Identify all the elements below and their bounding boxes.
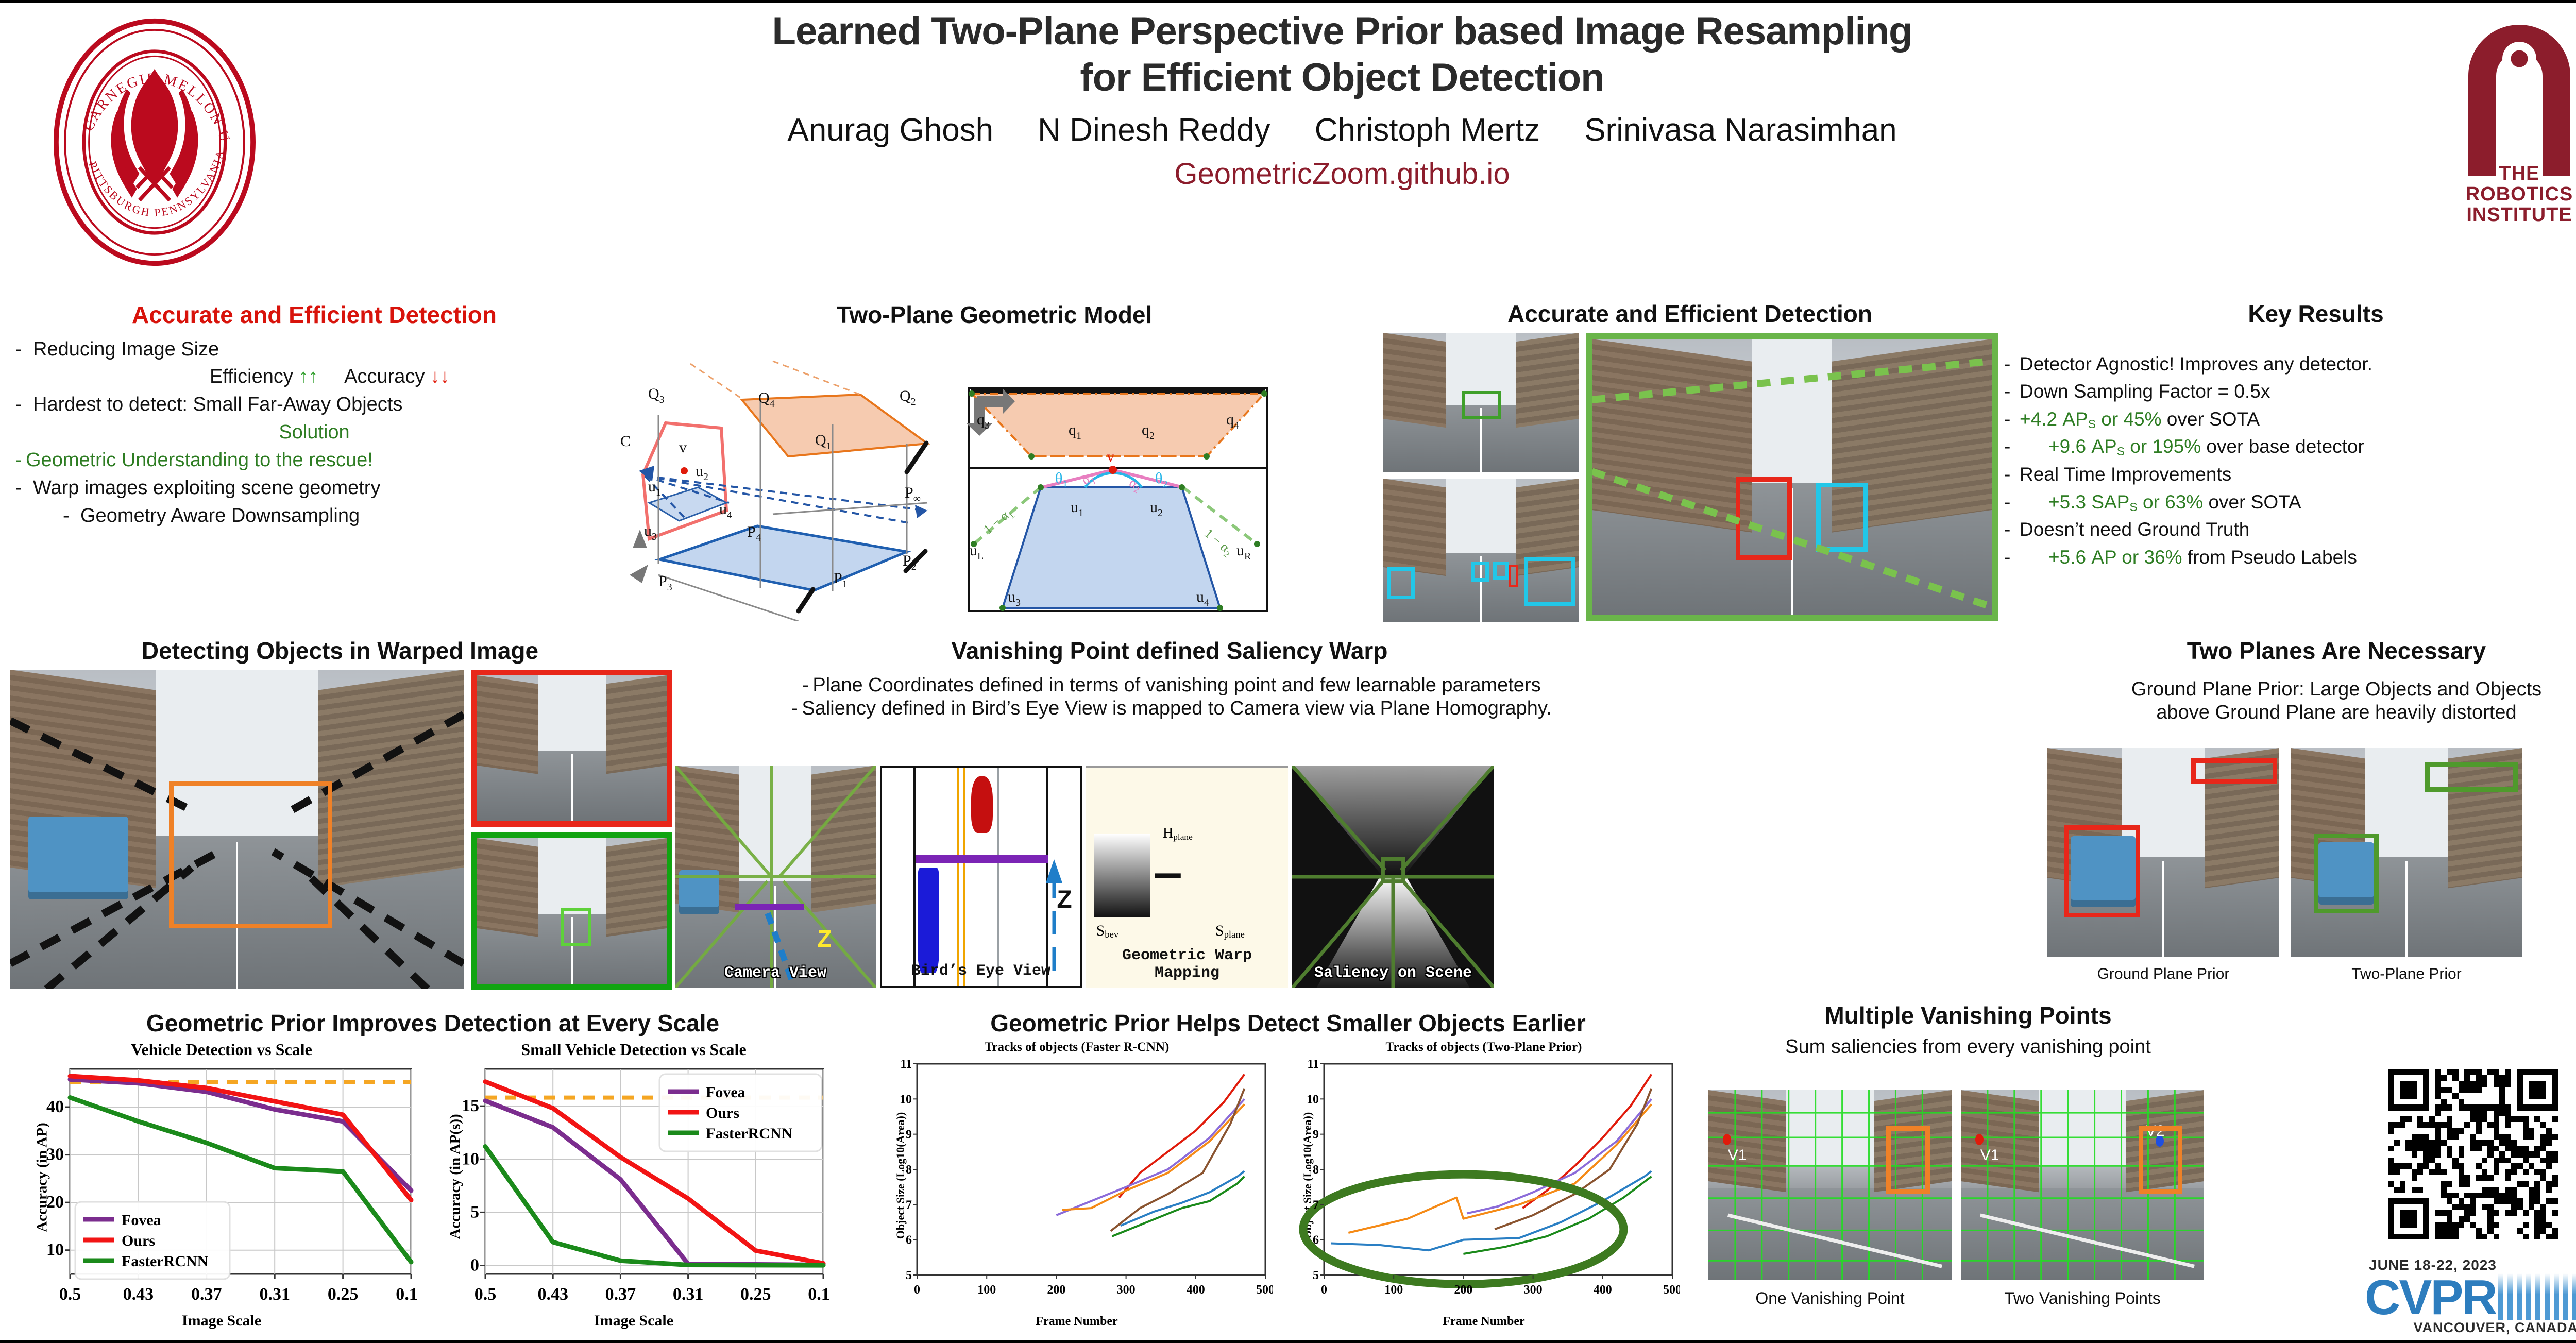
warped-crop-after [471,832,672,990]
bev-blue-bus-icon [918,868,939,973]
intro-solution-heading: Solution [15,419,613,447]
chart2-xlabel: Image Scale [438,1312,829,1330]
svg-text:0.37: 0.37 [605,1285,636,1304]
author-2: N Dinesh Reddy [1038,112,1270,148]
label-u4: u4 [719,501,732,521]
detection-title: Accurate and Efficient Detection [1381,301,1999,328]
key-result-2: -Down Sampling Factor = 0.5x [2004,378,2576,405]
warped-main-image [10,670,464,989]
key-result-1: -Detector Agnostic! Improves any detecto… [2004,350,2576,378]
svg-text:7: 7 [1313,1198,1319,1212]
two-planes-subtitle-line-2: above Ground Plane are heavily distorted [2040,701,2576,725]
bev-z-axis-label: Z [1057,886,1072,914]
svg-text:0.25: 0.25 [328,1285,359,1304]
svg-text:200: 200 [1454,1283,1472,1297]
chart3-title: Tracks of objects (Faster R-CNN) [881,1040,1273,1055]
vp1-marker-icon [1723,1134,1731,1145]
sbev-gradient-block [1094,834,1151,917]
label-P3: P3 [658,573,672,593]
svg-text:7: 7 [906,1198,912,1212]
label-u2: u2 [696,463,708,483]
saliency-warp-title: Vanishing Point defined Saliency Warp [675,638,1664,665]
chart3-xlabel: Frame Number [881,1315,1273,1329]
two-planes-necessary-title: Two Planes Are Necessary [2040,638,2576,665]
bev-red-car-icon [971,776,993,833]
chart4-xlabel: Frame Number [1288,1315,1680,1329]
key-result-3: -+4.2 APS or 45% over SOTA [2004,405,2576,433]
page-title-line-2: for Efficient Object Detection [289,55,2396,101]
chart1-xlabel: Image Scale [26,1312,417,1330]
poster-root: CARNEGIE MELLON UNIVERSITY PITTSBURGH PE… [0,0,2576,1343]
cvpr-name: CVPR [2365,1276,2496,1320]
svg-text:30: 30 [46,1145,64,1164]
svg-text:100: 100 [977,1283,996,1297]
tracks-charts-section: Geometric Prior Helps Detect Smaller Obj… [876,1010,1700,1037]
svg-text:5: 5 [1313,1269,1319,1282]
svg-text:0.31: 0.31 [673,1285,704,1304]
ground-plane-prior-image [2047,748,2279,957]
geometric-warp-mapping-panel: Sbev Hplane Splane Geometric Warp Mappin… [1086,766,1288,988]
project-qr-code[interactable] [2388,1069,2558,1239]
label-v: v [679,439,687,456]
svg-text:100: 100 [1384,1283,1403,1297]
ri-line-2: ROBOTICS [2411,184,2576,205]
svg-text:Ours: Ours [706,1104,739,1121]
chart1-title: Vehicle Detection vs Scale [26,1040,417,1059]
vp1-marker-icon-2 [1975,1134,1984,1145]
intro-bullet-5: -Geometry Aware Downsampling [15,502,613,530]
svg-text:11: 11 [900,1060,912,1071]
scale-charts-section: Geometric Prior Improves Detection at Ev… [10,1010,855,1037]
svg-text:300: 300 [1117,1283,1136,1297]
chart-vehicle-detection-vs-scale: Vehicle Detection vs Scale Accuracy (in … [26,1040,417,1329]
two-plane-prior-caption: Two-Plane Prior [2291,965,2522,983]
key-results-section: Key Results -Detector Agnostic! Improves… [2004,301,2576,571]
saliency-on-scene-label: Saliency on Scene [1292,964,1494,982]
svg-text:0.31: 0.31 [259,1285,290,1304]
vp1-label-right: V1 [1980,1147,1999,1164]
two-plane-model-section: Two-Plane Geometric Model [618,302,1370,621]
svg-text:15: 15 [462,1096,479,1115]
svg-text:0: 0 [914,1283,920,1297]
vanishing-points-subtitle: Sum saliencies from every vanishing poin… [1705,1035,2231,1059]
svg-text:11: 11 [1307,1060,1319,1071]
project-website-link[interactable]: GeometricZoom.github.io [289,157,2396,191]
warped-crop-before [471,670,672,827]
key-result-5: -Real Time Improvements [2004,461,2576,488]
svg-text:5: 5 [470,1202,479,1221]
intro-bullet-4: -Warp images exploiting scene geometry [15,474,613,502]
author-3: Christoph Mertz [1315,112,1540,148]
svg-text:10: 10 [900,1093,912,1106]
robotics-institute-logo: THE ROBOTICS INSTITUTE [2411,11,2576,274]
chart4-title: Tracks of objects (Two-Plane Prior) [1288,1040,1680,1055]
svg-text:0.25: 0.25 [740,1285,771,1304]
svg-text:FasterRCNN: FasterRCNN [706,1125,793,1142]
two-plane-model-diagram: Q3 Q4 Q2 Q1 C v u2 u1 u3 u4 P∞ P4 P3 P2 … [618,333,1370,621]
svg-text:0.12: 0.12 [808,1285,829,1304]
intro-bullet-1-sub: Efficiency ↑↑ Accuracy ↓↓ [15,363,613,391]
svg-text:500: 500 [1663,1283,1680,1297]
label-v-2d: v [1107,448,1114,465]
poster-header: CARNEGIE MELLON UNIVERSITY PITTSBURGH PE… [0,3,2576,292]
cvpr-logo: JUNE 18-22, 2023 CVPR VANCOUVER, CANADA [2365,1257,2576,1336]
svg-text:500: 500 [1256,1283,1273,1297]
saliency-bullet-2: -Saliency defined in Bird’s Eye View is … [675,697,1664,721]
geometric-warp-mapping-label: Geometric Warp Mapping [1086,947,1288,982]
detection-source-image-bottom [1383,479,1579,622]
svg-text:6: 6 [906,1234,912,1247]
svg-text:8: 8 [906,1163,912,1177]
cmu-seal-logo: CARNEGIE MELLON UNIVERSITY PITTSBURGH PE… [28,16,281,268]
one-vanishing-point-caption: One Vanishing Point [1708,1289,1952,1308]
birds-eye-view-panel: Z Bird’s Eye View [880,766,1082,988]
vanishing-points-section: Multiple Vanishing Points Sum saliencies… [1705,1002,2231,1059]
vanishing-points-title: Multiple Vanishing Points [1705,1002,2231,1029]
page-title-line-1: Learned Two-Plane Perspective Prior base… [289,8,2396,55]
splane-label: Splane [1215,922,1245,941]
saliency-on-scene-panel: Saliency on Scene [1292,766,1494,988]
svg-text:0.43: 0.43 [123,1285,154,1304]
warped-image-section: Detecting Objects in Warped Image [5,638,675,665]
camera-view-label: Camera View [675,964,876,982]
author-list: Anurag Ghosh N Dinesh Reddy Christoph Me… [289,112,2396,148]
qr-cvpr-block: JUNE 18-22, 2023 CVPR VANCOUVER, CANADA [2365,1069,2576,1336]
svg-text:5: 5 [906,1269,912,1282]
key-result-4: -+9.6 APS or 195% over base detector [2004,433,2576,461]
vancouver-skyline-icon [2498,1273,2576,1320]
intro-bullet-1: -Reducing Image Size [15,336,613,364]
svg-text:6: 6 [1313,1234,1319,1247]
sbev-label: Sbev [1096,922,1119,941]
key-result-7: -Doesn’t need Ground Truth [2004,516,2576,543]
svg-text:FasterRCNN: FasterRCNN [122,1253,209,1270]
camera-view-z-axis-label: Z [817,925,832,953]
hplane-label: Hplane [1163,825,1193,842]
birds-eye-view-label: Bird’s Eye View [882,962,1080,980]
svg-text:0: 0 [470,1256,479,1275]
svg-text:0.5: 0.5 [474,1285,497,1304]
author-4: Srinivasa Narasimhan [1584,112,1896,148]
svg-text:0.37: 0.37 [191,1285,222,1304]
two-planes-necessary-section: Two Planes Are Necessary Ground Plane Pr… [2040,638,2576,725]
vp1-label-left: V1 [1728,1147,1747,1164]
chart-tracks-two-plane-prior: Tracks of objects (Two-Plane Prior) Obje… [1288,1040,1680,1329]
svg-text:300: 300 [1524,1283,1543,1297]
chart2-title: Small Vehicle Detection vs Scale [438,1040,829,1059]
svg-text:10: 10 [1307,1093,1319,1106]
svg-text:0: 0 [1321,1283,1327,1297]
key-result-8: -+5.6 AP or 36% from Pseudo Labels [2004,543,2576,571]
svg-text:8: 8 [1313,1163,1319,1177]
camera-view-panel: Z Camera View [675,766,876,988]
svg-text:0.43: 0.43 [537,1285,568,1304]
ri-line-3: INSTITUTE [2411,205,2576,226]
saliency-warp-section: Vanishing Point defined Saliency Warp -P… [675,638,1664,721]
key-result-6: -+5.3 SAPS or 63% over SOTA [2004,488,2576,516]
svg-text:20: 20 [46,1193,64,1212]
svg-text:0.12: 0.12 [396,1285,417,1304]
svg-text:10: 10 [462,1149,479,1168]
two-vanishing-points-caption: Two Vanishing Points [1961,1289,2204,1308]
two-plane-prior-image [2291,748,2522,957]
svg-text:200: 200 [1047,1283,1065,1297]
one-vanishing-point-image: V1 [1708,1090,1952,1280]
detection-zoom-panel [1586,333,1998,621]
two-planes-subtitle-line-1: Ground Plane Prior: Large Objects and Ob… [2040,678,2576,702]
tracks-charts-title: Geometric Prior Helps Detect Smaller Obj… [876,1010,1700,1037]
svg-text:9: 9 [906,1128,912,1142]
intro-bullet-2: -Hardest to detect: Small Far-Away Objec… [15,391,613,419]
intro-section: Accurate and Efficient Detection -Reduci… [15,302,613,530]
svg-text:10: 10 [46,1240,64,1260]
ground-plane-prior-caption: Ground Plane Prior [2047,965,2279,983]
svg-text:9: 9 [1313,1128,1319,1142]
author-1: Anurag Ghosh [787,112,993,148]
chart-small-vehicle-detection-vs-scale: Small Vehicle Detection vs Scale Accurac… [438,1040,829,1329]
svg-text:0.5: 0.5 [59,1285,81,1304]
detection-section: Accurate and Efficient Detection [1381,301,1999,625]
svg-text:400: 400 [1187,1283,1205,1297]
label-C: C [620,433,631,450]
svg-text:Ours: Ours [122,1232,155,1249]
scale-charts-title: Geometric Prior Improves Detection at Ev… [10,1010,855,1037]
chart-tracks-faster-rcnn: Tracks of objects (Faster R-CNN) Object … [881,1040,1273,1329]
efficiency-up-arrows-icon: ↑↑ [298,366,318,387]
two-plane-model-title: Two-Plane Geometric Model [618,302,1370,329]
saliency-bullet-1: -Plane Coordinates defined in terms of v… [675,674,1664,698]
svg-text:40: 40 [46,1097,64,1116]
title-block: Learned Two-Plane Perspective Prior base… [289,8,2396,191]
intro-title: Accurate and Efficient Detection [15,302,613,329]
accuracy-down-arrows-icon: ↓↓ [430,366,450,387]
intro-bullet-3: -Geometric Understanding to the rescue! [15,447,613,474]
detection-source-image-top [1383,333,1579,472]
warped-image-title: Detecting Objects in Warped Image [5,638,675,665]
key-results-title: Key Results [2004,301,2576,328]
svg-text:400: 400 [1594,1283,1612,1297]
svg-text:Fovea: Fovea [122,1212,161,1229]
svg-text:Fovea: Fovea [706,1084,745,1101]
label-Q2: Q2 [900,387,916,407]
two-vanishing-points-image: V1 V2 [1961,1090,2204,1280]
label-Q3: Q3 [648,385,665,405]
